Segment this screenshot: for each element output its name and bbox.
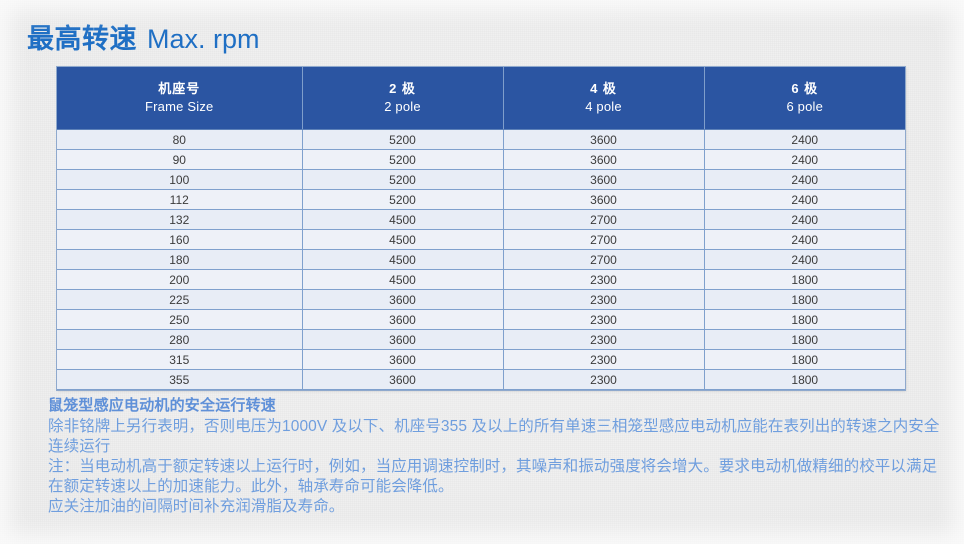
- cell-4-pole: 2300: [503, 290, 704, 310]
- notes-paragraph-3: 应关注加油的间隔时间补充润滑脂及寿命。: [48, 497, 948, 517]
- cell-4-pole: 2700: [503, 230, 704, 250]
- column-header-frame-size-en: Frame Size: [57, 98, 302, 116]
- cell-frame-size: 355: [57, 370, 302, 390]
- cell-frame-size: 200: [57, 270, 302, 290]
- cell-2-pole: 4500: [302, 250, 503, 270]
- table-row: 200450023001800: [57, 270, 905, 290]
- cell-6-pole: 2400: [704, 230, 905, 250]
- cell-2-pole: 5200: [302, 170, 503, 190]
- cell-frame-size: 90: [57, 150, 302, 170]
- cell-4-pole: 2300: [503, 370, 704, 390]
- cell-6-pole: 2400: [704, 210, 905, 230]
- cell-4-pole: 2300: [503, 310, 704, 330]
- cell-4-pole: 2700: [503, 250, 704, 270]
- column-header-4-pole: 4 极 4 pole: [503, 67, 704, 130]
- cell-4-pole: 3600: [503, 190, 704, 210]
- cell-2-pole: 5200: [302, 190, 503, 210]
- notes-paragraph-2: 注：当电动机高于额定转速以上运行时，例如，当应用调速控制时，其噪声和振动强度将会…: [48, 457, 948, 496]
- cell-frame-size: 80: [57, 130, 302, 150]
- column-header-2-pole-cn: 2 极: [303, 80, 503, 98]
- cell-2-pole: 4500: [302, 230, 503, 250]
- column-header-2-pole-en: 2 pole: [303, 98, 503, 116]
- cell-6-pole: 1800: [704, 330, 905, 350]
- cell-frame-size: 112: [57, 190, 302, 210]
- table-row: 160450027002400: [57, 230, 905, 250]
- cell-2-pole: 3600: [302, 370, 503, 390]
- table-row: 180450027002400: [57, 250, 905, 270]
- cell-2-pole: 5200: [302, 150, 503, 170]
- cell-4-pole: 2300: [503, 350, 704, 370]
- cell-6-pole: 2400: [704, 130, 905, 150]
- cell-2-pole: 3600: [302, 290, 503, 310]
- cell-6-pole: 1800: [704, 350, 905, 370]
- notes-heading: 鼠笼型感应电动机的安全运行转速: [48, 396, 948, 416]
- cell-2-pole: 3600: [302, 310, 503, 330]
- page-title-cn: 最高转速: [27, 24, 137, 54]
- table-row: 225360023001800: [57, 290, 905, 310]
- cell-4-pole: 2700: [503, 210, 704, 230]
- max-rpm-table: 机座号 Frame Size 2 极 2 pole 4 极 4 pole 6 极…: [57, 67, 905, 390]
- table-row: 80520036002400: [57, 130, 905, 150]
- cell-6-pole: 1800: [704, 310, 905, 330]
- table-header-row: 机座号 Frame Size 2 极 2 pole 4 极 4 pole 6 极…: [57, 67, 905, 130]
- cell-frame-size: 160: [57, 230, 302, 250]
- cell-frame-size: 250: [57, 310, 302, 330]
- table-row: 112520036002400: [57, 190, 905, 210]
- table-row: 315360023001800: [57, 350, 905, 370]
- table-header: 机座号 Frame Size 2 极 2 pole 4 极 4 pole 6 极…: [57, 67, 905, 130]
- cell-4-pole: 3600: [503, 170, 704, 190]
- cell-2-pole: 3600: [302, 330, 503, 350]
- page-title-en: Max. rpm: [137, 24, 260, 54]
- column-header-frame-size-cn: 机座号: [57, 80, 302, 98]
- column-header-4-pole-cn: 4 极: [504, 80, 704, 98]
- column-header-6-pole: 6 极 6 pole: [704, 67, 905, 130]
- column-header-6-pole-en: 6 pole: [705, 98, 906, 116]
- notes-block: 鼠笼型感应电动机的安全运行转速 除非铭牌上另行表明，否则电压为1000V 及以下…: [48, 396, 948, 517]
- cell-6-pole: 2400: [704, 190, 905, 210]
- cell-6-pole: 1800: [704, 290, 905, 310]
- table-body: 8052003600240090520036002400100520036002…: [57, 130, 905, 390]
- cell-frame-size: 132: [57, 210, 302, 230]
- cell-2-pole: 3600: [302, 350, 503, 370]
- cell-frame-size: 100: [57, 170, 302, 190]
- cell-6-pole: 2400: [704, 250, 905, 270]
- cell-2-pole: 4500: [302, 270, 503, 290]
- cell-4-pole: 2300: [503, 330, 704, 350]
- table-row: 90520036002400: [57, 150, 905, 170]
- cell-6-pole: 2400: [704, 170, 905, 190]
- cell-frame-size: 280: [57, 330, 302, 350]
- table-row: 280360023001800: [57, 330, 905, 350]
- notes-paragraph-1: 除非铭牌上另行表明，否则电压为1000V 及以下、机座号355 及以上的所有单速…: [48, 417, 948, 456]
- table-row: 100520036002400: [57, 170, 905, 190]
- cell-4-pole: 3600: [503, 130, 704, 150]
- cell-2-pole: 5200: [302, 130, 503, 150]
- cell-6-pole: 2400: [704, 150, 905, 170]
- cell-frame-size: 180: [57, 250, 302, 270]
- cell-4-pole: 3600: [503, 150, 704, 170]
- cell-2-pole: 4500: [302, 210, 503, 230]
- column-header-2-pole: 2 极 2 pole: [302, 67, 503, 130]
- cell-4-pole: 2300: [503, 270, 704, 290]
- column-header-4-pole-en: 4 pole: [504, 98, 704, 116]
- slide-canvas: 最高转速Max. rpm 机座号 Frame Size 2 极 2 pole 4…: [0, 0, 964, 544]
- column-header-frame-size: 机座号 Frame Size: [57, 67, 302, 130]
- table-row: 355360023001800: [57, 370, 905, 390]
- column-header-6-pole-cn: 6 极: [705, 80, 906, 98]
- cell-frame-size: 315: [57, 350, 302, 370]
- cell-frame-size: 225: [57, 290, 302, 310]
- table-row: 132450027002400: [57, 210, 905, 230]
- table-row: 250360023001800: [57, 310, 905, 330]
- page-title: 最高转速Max. rpm: [27, 26, 260, 53]
- cell-6-pole: 1800: [704, 270, 905, 290]
- cell-6-pole: 1800: [704, 370, 905, 390]
